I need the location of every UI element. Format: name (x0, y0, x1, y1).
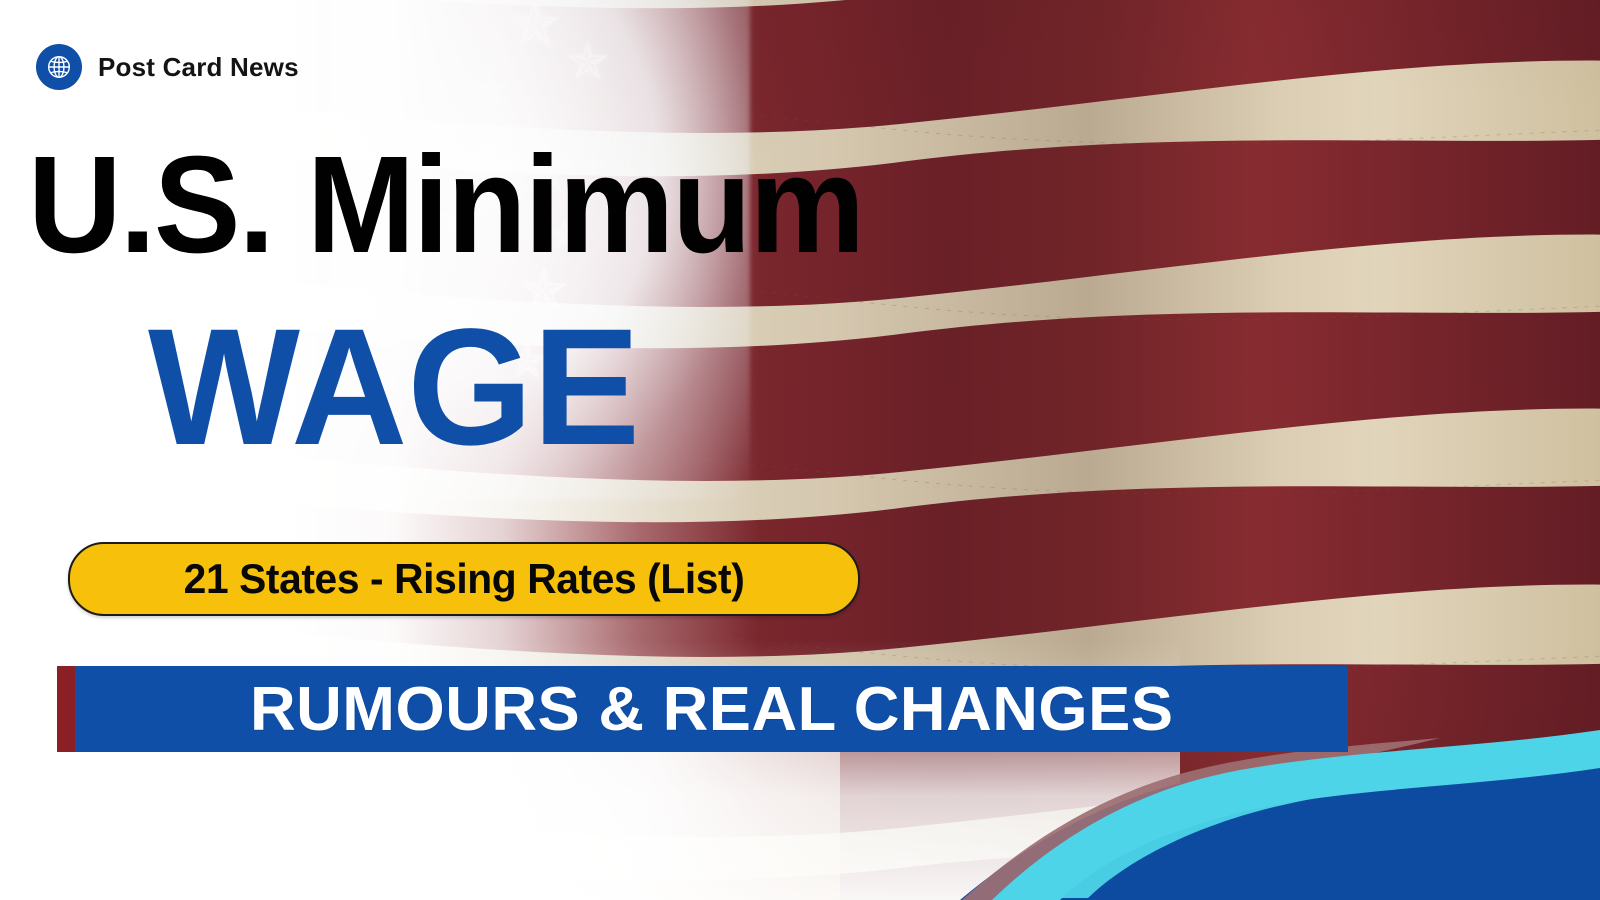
banner-label: RUMOURS & REAL CHANGES (250, 674, 1174, 745)
headline-line-1: U.S. Minimum (28, 136, 863, 274)
headline-line-2: WAGE (148, 305, 640, 471)
banner-bar: RUMOURS & REAL CHANGES (75, 666, 1348, 752)
brand-name: Post Card News (98, 52, 299, 83)
brand-logo[interactable]: Post Card News (36, 44, 299, 90)
states-badge-label: 21 States - Rising Rates (List) (184, 555, 745, 603)
banner-accent-bar (57, 666, 75, 752)
globe-icon (36, 44, 82, 90)
globe-icon-svg (44, 52, 74, 82)
states-badge[interactable]: 21 States - Rising Rates (List) (68, 542, 860, 616)
subtitle-banner: RUMOURS & REAL CHANGES (57, 666, 1348, 752)
thumbnail-canvas: ✯ ✯ ✯ ✯ ✯ ✯ ✯ ✯ ✯ Post Ca (0, 0, 1600, 900)
